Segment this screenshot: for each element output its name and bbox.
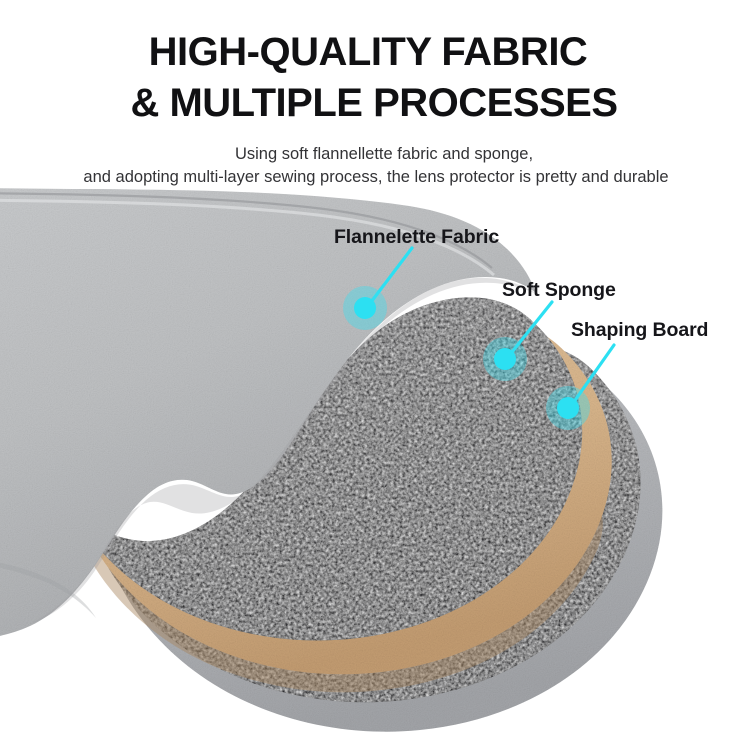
callout-dot-core [557, 397, 579, 419]
callout-dot-core [494, 348, 516, 370]
callout-label-shaping-board: Shaping Board [571, 319, 708, 342]
callout-dot-flannelette-fabric[interactable] [343, 286, 387, 330]
callout-dot-soft-sponge[interactable] [483, 337, 527, 381]
callout-group: Flannelette Fabric Soft Sponge Shaping B… [0, 0, 750, 750]
callout-dot-core [354, 297, 376, 319]
callout-label-flannelette-fabric: Flannelette Fabric [334, 226, 499, 249]
callout-label-soft-sponge: Soft Sponge [502, 279, 616, 302]
callout-dot-shaping-board[interactable] [546, 386, 590, 430]
infographic-canvas: HIGH-QUALITY FABRIC & MULTIPLE PROCESSES… [0, 0, 750, 750]
